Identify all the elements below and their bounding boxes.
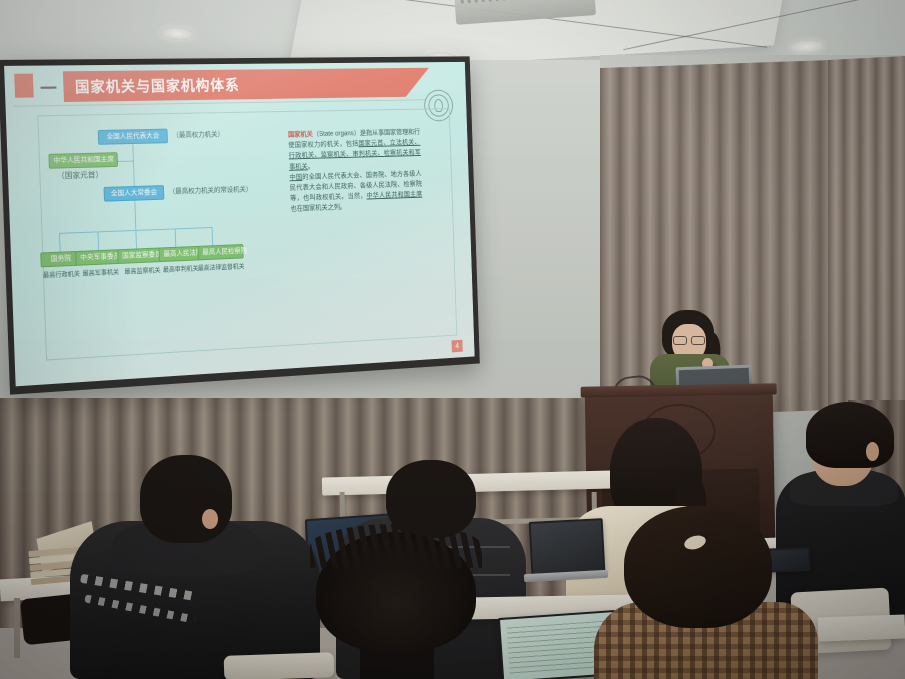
paragraph-keyword-2: 中国 — [289, 174, 302, 181]
glasses-icon — [806, 436, 850, 448]
slide-title: 国家机关与国家机构体系 — [75, 74, 240, 96]
downlight-icon — [160, 26, 195, 41]
student-hair — [806, 402, 894, 468]
chart-leaf-procuratorate: 最高人民检察院 — [198, 244, 244, 260]
glasses-icon — [673, 336, 705, 343]
paragraph-line4: 也在国家机关之列。 — [290, 204, 346, 213]
student-left-black-jacket — [70, 455, 320, 679]
slide-accent-block — [14, 74, 33, 98]
chart-note-npc: （最高权力机关） — [172, 129, 224, 140]
student-plaid-coat — [600, 506, 814, 679]
downlight-icon — [790, 39, 825, 54]
student-ear — [202, 509, 218, 529]
chart-edge — [135, 230, 137, 250]
projected-slide: 一 国家机关与国家机构体系 — [4, 62, 475, 386]
chart-note-npcsc: （最高权力机关的常设机关） — [169, 184, 253, 196]
chart-edge — [212, 227, 214, 246]
paragraph-underlined-2: 中华人民共和国主席 — [366, 191, 422, 199]
desk-far-right — [818, 614, 905, 641]
classroom-photo: 一 国家机关与国家机构体系 — [0, 0, 905, 679]
student-hair-spikes — [310, 524, 482, 568]
slide-paragraph: 国家机关（State organs）是指从事国家管理和行使国家权力的机关，包括国… — [288, 127, 423, 215]
chart-edge — [175, 228, 177, 247]
chart-edge — [97, 231, 99, 251]
slide-chapter-number: 一 — [40, 74, 57, 99]
chart-edge — [59, 233, 61, 253]
chart-node-npcsc: 全国人大常委会 — [104, 185, 165, 202]
chart-node-npc: 全国人民代表大会 — [98, 129, 168, 145]
chart-node-president: 中华人民共和国主席 — [48, 152, 118, 169]
org-chart: 全国人民代表大会 （最高权力机关） 中华人民共和国主席 （国家元首） 全国人大常… — [42, 122, 291, 325]
projection-screen: 一 国家机关与国家机构体系 — [0, 56, 480, 394]
podium-top-surface — [581, 383, 777, 397]
paragraph-line2: 。 — [308, 163, 314, 170]
chair — [224, 652, 335, 679]
chart-note-president: （国家元首） — [57, 169, 104, 181]
paragraph-keyword: 国家机关 — [288, 131, 313, 138]
slide-title-banner: 国家机关与国家机构体系 — [63, 68, 430, 102]
paragraph-english: （State organs） — [313, 130, 360, 138]
student-front-spiky-hair — [316, 532, 476, 679]
slide-page-number: 4 — [452, 340, 463, 353]
student-hair — [624, 506, 772, 628]
chart-edge — [134, 201, 136, 230]
desk-leg — [14, 598, 20, 658]
student-ear — [866, 442, 879, 461]
student-hair — [140, 455, 232, 543]
chart-caption-procuratorate: 最高法律监督机关 — [194, 261, 247, 272]
chart-edge — [132, 138, 135, 189]
laptop — [529, 518, 606, 576]
